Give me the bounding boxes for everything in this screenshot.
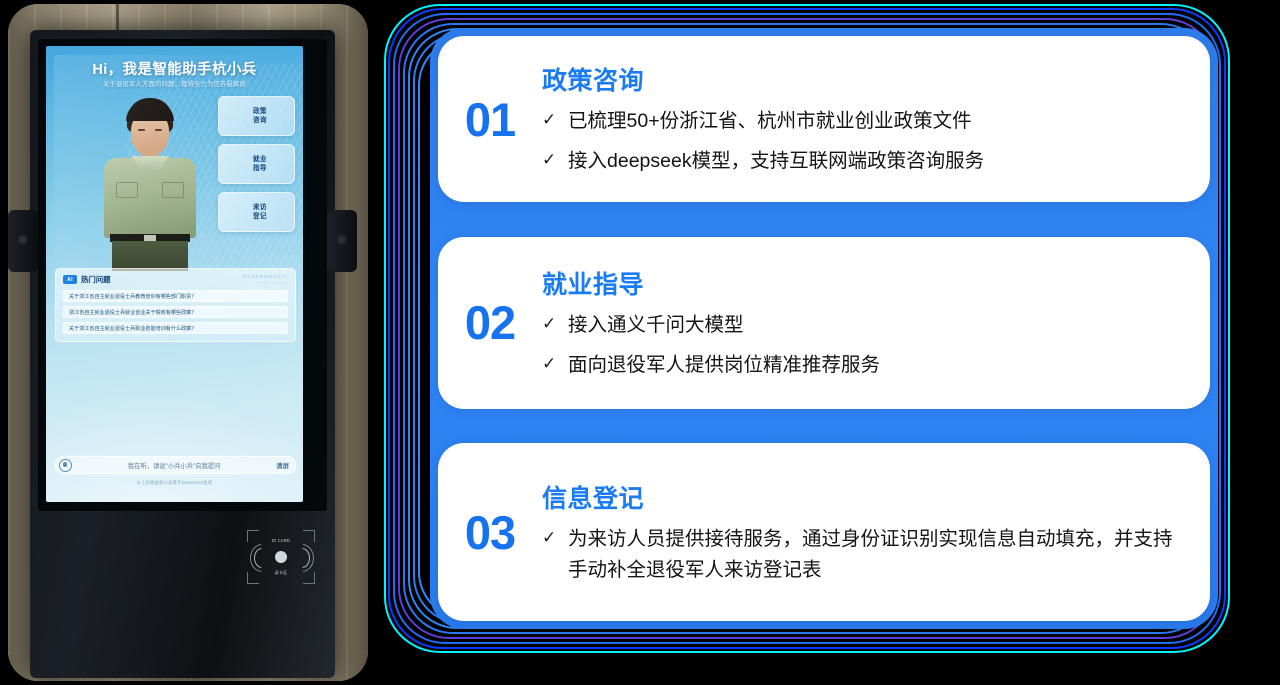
feature-bullet: ✓ 接入deepseek模型，支持互联网端政策咨询服务 [542,146,1184,177]
feature-bullet-text: 面向退役军人提供岗位精准推荐服务 [568,350,880,381]
slide-canvas: Hi，我是智能助手杭小兵 关于退役军人方面的问题，我将全力为您答疑解惑 [0,0,1280,685]
feature-card-3[interactable]: 03 信息登记 ✓ 为来访人员提供接待服务，通过身份证识别实现信息自动填充，并支… [438,443,1210,621]
voice-input-bar[interactable]: 我在听，请说"小兵小兵"向我提问 清屏 [55,456,296,474]
hot-questions-card: AI 热门问题 GENERNMENTL ▪▪▪▪▪▪▪▪▪▪▪▪ 关于浙江省自主… [55,268,296,342]
clear-screen-button[interactable]: 清屏 [276,461,289,470]
feature-title: 信息登记 [542,479,1184,515]
kiosk-photo: Hi，我是智能助手杭小兵 关于退役军人方面的问题，我将全力为您答疑解惑 [8,4,368,681]
feature-title: 政策咨询 [542,61,1184,97]
kiosk-side-wing-right [327,210,357,272]
hot-questions-header: AI 热门问题 [63,274,111,285]
kiosk-side-wing-left [8,210,38,272]
kiosk-action-list: 政策 咨询 就业 指导 [218,96,295,240]
feature-number: 01 [438,96,542,143]
kiosk-action-label: 就业 指导 [253,155,267,173]
nfc-wave-icon [294,548,310,568]
microphone-icon[interactable] [59,459,72,472]
screen-subtitle: 关于退役军人方面的问题，我将全力为您答疑解惑 [46,79,303,88]
feature-card-1[interactable]: 01 政策咨询 ✓ 已梳理50+份浙江省、杭州市就业创业政策文件 ✓ 接入dee… [438,36,1210,202]
hot-questions-title: 热门问题 [81,274,111,285]
hot-question-item[interactable]: 关于浙江省自主就业退役士兵职业技能培训有什么政策？ [63,322,288,334]
nfc-wave-icon [290,544,314,572]
id-reader-bottom-label: 读卡区 [247,570,315,575]
nfc-wave-icon [254,548,270,568]
kiosk-action-label: 政策 咨询 [253,107,267,125]
check-icon: ✓ [542,350,568,378]
watermark-text: GENERNMENTL [243,274,289,279]
voice-input-placeholder: 我在听，请说"小兵小兵"向我提问 [72,461,276,470]
check-icon: ✓ [542,146,568,174]
feature-bullet-text: 接入通义千问大模型 [568,310,744,341]
policy-books-icon [223,103,253,129]
virtual-assistant-avatar [98,98,202,268]
kiosk-action-policy-consult[interactable]: 政策 咨询 [218,96,295,136]
kiosk-action-employment-guide[interactable]: 就业 指导 [218,144,295,184]
feature-bullet-text: 为来访人员提供接待服务，通过身份证识别实现信息自动填充，并支持手动补全退役军人来… [568,524,1184,586]
kiosk-screen: Hi，我是智能助手杭小兵 关于退役军人方面的问题，我将全力为您答疑解惑 [46,46,303,502]
feature-card-list: 01 政策咨询 ✓ 已梳理50+份浙江省、杭州市就业创业政策文件 ✓ 接入dee… [438,36,1210,621]
feature-number: 02 [438,299,542,346]
visitor-register-icon [223,199,253,225]
kiosk-action-label: 来访 登记 [253,203,267,221]
watermark-dots: ▪▪▪▪▪▪▪▪▪▪▪▪ [255,280,289,285]
screen-title: Hi，我是智能助手杭小兵 [46,58,303,79]
employment-guide-icon [223,151,253,177]
check-icon: ✓ [542,310,568,338]
feature-bullet: ✓ 接入通义千问大模型 [542,310,1184,341]
feature-bullet: ✓ 面向退役军人提供岗位精准推荐服务 [542,350,1184,381]
feature-number: 03 [438,509,542,556]
ai-disclaimer-note: 以上内容由杭小兵基于DeepSeek生成 [46,480,303,486]
id-reader-top-label: ID CARD [247,538,315,543]
feature-title: 就业指导 [542,265,1184,301]
nfc-center-icon [275,551,287,563]
id-card-reader[interactable]: ID CARD 读卡区 [247,530,315,584]
hot-question-item[interactable]: 关于浙江省自主就业退役士兵教育培训有哪些部门职责？ [63,290,288,302]
kiosk-machine: Hi，我是智能助手杭小兵 关于退役军人方面的问题，我将全力为您答疑解惑 [30,30,335,678]
hot-question-item[interactable]: 浙江省自主就业退役士兵就业创业关于税收有哪些政策？ [63,306,288,318]
feature-panel: 01 政策咨询 ✓ 已梳理50+份浙江省、杭州市就业创业政策文件 ✓ 接入dee… [386,6,1228,651]
feature-bullet: ✓ 为来访人员提供接待服务，通过身份证识别实现信息自动填充，并支持手动补全退役军… [542,524,1184,586]
feature-bullet: ✓ 已梳理50+份浙江省、杭州市就业创业政策文件 [542,106,1184,137]
feature-bullet-text: 已梳理50+份浙江省、杭州市就业创业政策文件 [568,106,972,137]
check-icon: ✓ [542,106,568,134]
kiosk-action-visitor-register[interactable]: 来访 登记 [218,192,295,232]
ai-badge: AI [63,275,77,284]
check-icon: ✓ [542,524,568,552]
nfc-wave-icon [250,544,274,572]
feature-card-2[interactable]: 02 就业指导 ✓ 接入通义千问大模型 ✓ 面向退役军人提供岗位精准推荐服务 [438,237,1210,409]
feature-bullet-text: 接入deepseek模型，支持互联网端政策咨询服务 [568,146,984,177]
